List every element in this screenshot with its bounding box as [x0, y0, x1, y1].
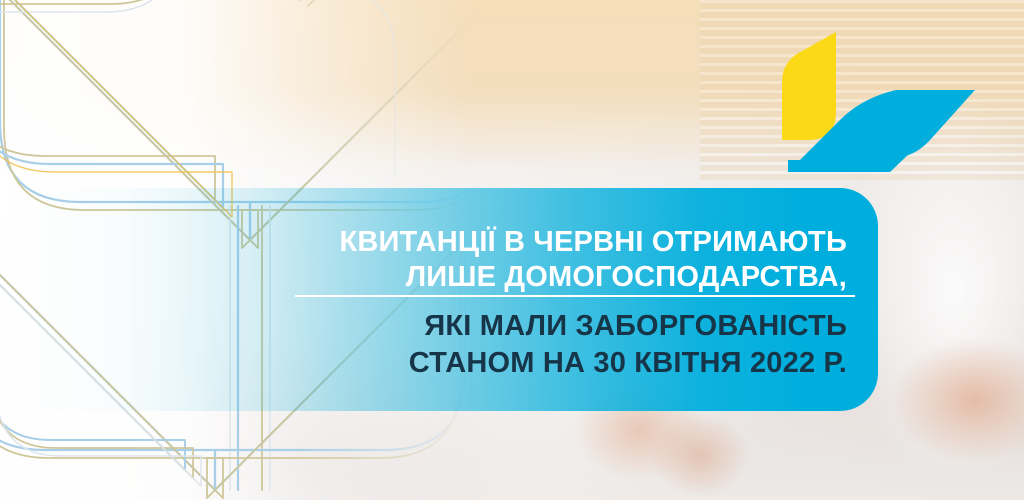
headline-divider: [295, 295, 855, 297]
headline-line-4: СТАНОМ НА 30 КВІТНЯ 2022 Р.: [409, 349, 847, 378]
headline-line-2: ЛИШЕ ДОМОГОСПОДАРСТВА,: [406, 263, 847, 292]
logo-mark: [770, 20, 1000, 185]
headline-line-1: КВИТАНЦІЇ В ЧЕРВНІ ОТРИМАЮТЬ: [339, 228, 847, 257]
headline-banner: КВИТАНЦІЇ В ЧЕРВНІ ОТРИМАЮТЬ ЛИШЕ ДОМОГО…: [0, 188, 878, 411]
headline-line-3: ЯКІ МАЛИ ЗАБОРГОВАНІСТЬ: [424, 312, 847, 341]
yellow-leaf-icon: [782, 32, 836, 140]
banner-stage: КВИТАНЦІЇ В ЧЕРВНІ ОТРИМАЮТЬ ЛИШЕ ДОМОГО…: [0, 0, 1024, 500]
